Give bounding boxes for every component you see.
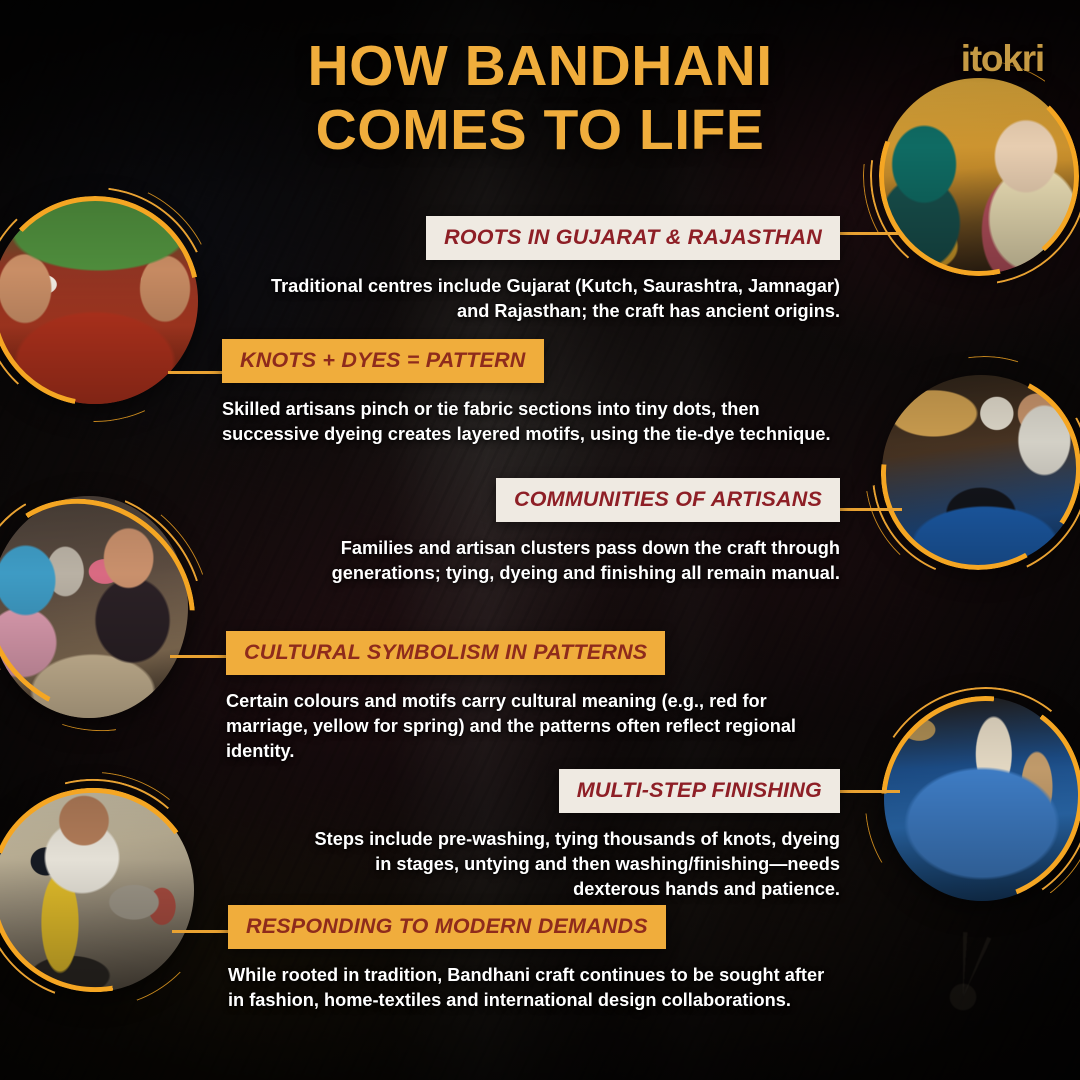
section-body-5: Steps include pre-washing, tying thousan… [300,827,840,901]
section-body-3: Families and artisan clusters pass down … [240,536,840,586]
section-header-5: MULTI-STEP FINISHING [559,769,840,813]
photo-shade-4 [882,375,1080,567]
photo-women-tying-yellow [881,78,1077,274]
section-header-4: CULTURAL SYMBOLISM IN PATTERNS [226,631,665,675]
section-header-2: KNOTS + DYES = PATTERN [222,339,544,383]
connector-line-6 [172,930,230,933]
section-header-6: RESPONDING TO MODERN DEMANDS [228,905,666,949]
section-cultural-symbolism-in-patterns: CULTURAL SYMBOLISM IN PATTERNS Certain c… [226,631,840,763]
section-body-4: Certain colours and motifs carry cultura… [226,689,840,763]
photo-woman-tying-cream [0,496,188,718]
connector-line-1 [836,232,900,235]
section-body-1: Traditional centres include Gujarat (Kut… [270,274,840,324]
photo-shade-6 [0,788,194,992]
connector-line-5 [838,790,900,793]
section-responding-to-modern-demands: RESPONDING TO MODERN DEMANDS While roote… [228,905,828,1013]
background-motif-ornament [898,932,1028,1062]
section-header-1: ROOTS IN GUJARAT & RAJASTHAN [426,216,840,260]
photo-dyer-blue-vat [882,375,1080,567]
photo-shade-1 [881,78,1077,274]
section-communities-of-artisans: COMMUNITIES OF ARTISANS Families and art… [240,478,840,586]
section-body-2: Skilled artisans pinch or tie fabric sec… [222,397,840,447]
section-knots-dyes-pattern: KNOTS + DYES = PATTERN Skilled artisans … [222,339,840,447]
photo-indigo-dye-vat [884,697,1080,901]
section-multi-step-finishing: MULTI-STEP FINISHING Steps include pre-w… [300,769,840,901]
section-header-3: COMMUNITIES OF ARTISANS [496,478,840,522]
section-body-6: While rooted in tradition, Bandhani craf… [228,963,828,1013]
photo-shade-5 [884,697,1080,901]
connector-line-2 [168,371,230,374]
photo-yellow-fabric-lift [0,788,194,992]
itokri-logo[interactable]: itokri [961,38,1044,80]
connector-line-3 [840,508,902,511]
section-roots-in-gujarat-rajasthan: ROOTS IN GUJARAT & RAJASTHAN Traditional… [270,216,840,324]
connector-line-4 [170,655,230,658]
photo-shade-3 [0,496,188,718]
